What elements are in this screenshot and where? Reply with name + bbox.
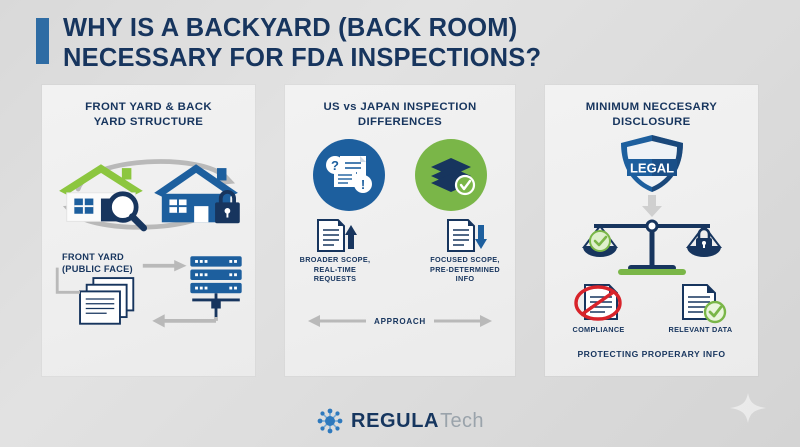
header: WHY IS A BACKYARD (BACK ROOM) NECESSARY … bbox=[36, 14, 541, 74]
page-title: WHY IS A BACKYARD (BACK ROOM) NECESSARY … bbox=[63, 14, 541, 74]
document-up-arrow-icon bbox=[312, 217, 358, 255]
panel-1-title: FRONT YARD & BACK YARD STRUCTURE bbox=[42, 85, 255, 129]
compliance-label: COMPLIANCE bbox=[573, 325, 625, 334]
shield-label: LEGAL bbox=[629, 161, 673, 176]
document-question-exclamation-icon: ? ! bbox=[324, 152, 374, 198]
japan-column: FOCUSED SCOPE, PRE-DETERMINED INFO bbox=[415, 217, 515, 283]
us-circle: ? ! bbox=[313, 139, 385, 211]
comparison-captions: BROADER SCOPE, REAL-TIME REQUESTS FOCUSE… bbox=[285, 217, 515, 283]
document-check-icon bbox=[673, 281, 729, 325]
logo-primary-text: REGULA bbox=[351, 410, 439, 433]
approach-label: APPROACH bbox=[374, 317, 426, 326]
panel-2-title: US vs JAPAN INSPECTION DIFFERENCES bbox=[285, 85, 515, 129]
panel-1-house-diagram bbox=[42, 137, 255, 242]
sparkle-icon bbox=[728, 391, 768, 425]
double-arrow-right-icon bbox=[432, 314, 494, 328]
front-yard-label: FRONT YARD (PUBLIC FACE) bbox=[62, 252, 133, 275]
japan-circle bbox=[415, 139, 487, 211]
panel-row: FRONT YARD & BACK YARD STRUCTURE bbox=[42, 85, 758, 376]
panel-front-back-yard: FRONT YARD & BACK YARD STRUCTURE bbox=[42, 85, 255, 376]
layers-check-icon bbox=[426, 152, 476, 198]
approach-row: APPROACH bbox=[285, 314, 515, 328]
server-rack-icon bbox=[190, 256, 241, 317]
balance-scale-icon bbox=[578, 217, 726, 279]
protecting-info-note: PROTECTING PROPERARY INFO bbox=[577, 349, 725, 359]
panel-1-flow-diagram: FRONT YARD (PUBLIC FACE) bbox=[42, 244, 255, 354]
panel-us-vs-japan: US vs JAPAN INSPECTION DIFFERENCES bbox=[285, 85, 515, 376]
svg-text:?: ? bbox=[331, 158, 339, 173]
disclosure-items: COMPLIANCE RELEV bbox=[571, 281, 733, 334]
svg-text:!: ! bbox=[361, 177, 365, 192]
relevant-data-label: RELEVANT DATA bbox=[669, 325, 733, 334]
footer: REGULA Tech bbox=[0, 407, 800, 435]
panel-3-body: LEGAL bbox=[545, 133, 758, 358]
title-accent-bar bbox=[36, 18, 49, 64]
disclosure-item-compliance: COMPLIANCE bbox=[571, 281, 627, 334]
panel-minimum-disclosure: MINIMUM NECCESARY DISCLOSURE LEGAL bbox=[545, 85, 758, 376]
logo-secondary-text: Tech bbox=[440, 410, 484, 433]
houses-svg bbox=[42, 137, 255, 242]
us-column: BROADER SCOPE, REAL-TIME REQUESTS bbox=[285, 217, 385, 283]
disclosure-item-relevant-data: RELEVANT DATA bbox=[669, 281, 733, 334]
shield-icon: LEGAL bbox=[615, 133, 689, 195]
lock-icon bbox=[696, 229, 712, 251]
document-prohibited-icon bbox=[571, 281, 627, 325]
document-stack-icon bbox=[80, 278, 133, 324]
infographic-canvas: WHY IS A BACKYARD (BACK ROOM) NECESSARY … bbox=[0, 0, 800, 447]
us-caption: BROADER SCOPE, REAL-TIME REQUESTS bbox=[300, 255, 371, 283]
down-arrow-icon bbox=[641, 195, 663, 217]
double-arrow-left-icon bbox=[306, 314, 368, 328]
snowflake-molecule-icon bbox=[316, 407, 344, 435]
panel-3-title: MINIMUM NECCESARY DISCLOSURE bbox=[545, 85, 758, 129]
document-down-arrow-icon bbox=[442, 217, 488, 255]
comparison-circles: ? ! bbox=[285, 139, 515, 211]
brand-logo[interactable]: REGULA Tech bbox=[316, 407, 484, 435]
japan-caption: FOCUSED SCOPE, PRE-DETERMINED INFO bbox=[430, 255, 500, 283]
